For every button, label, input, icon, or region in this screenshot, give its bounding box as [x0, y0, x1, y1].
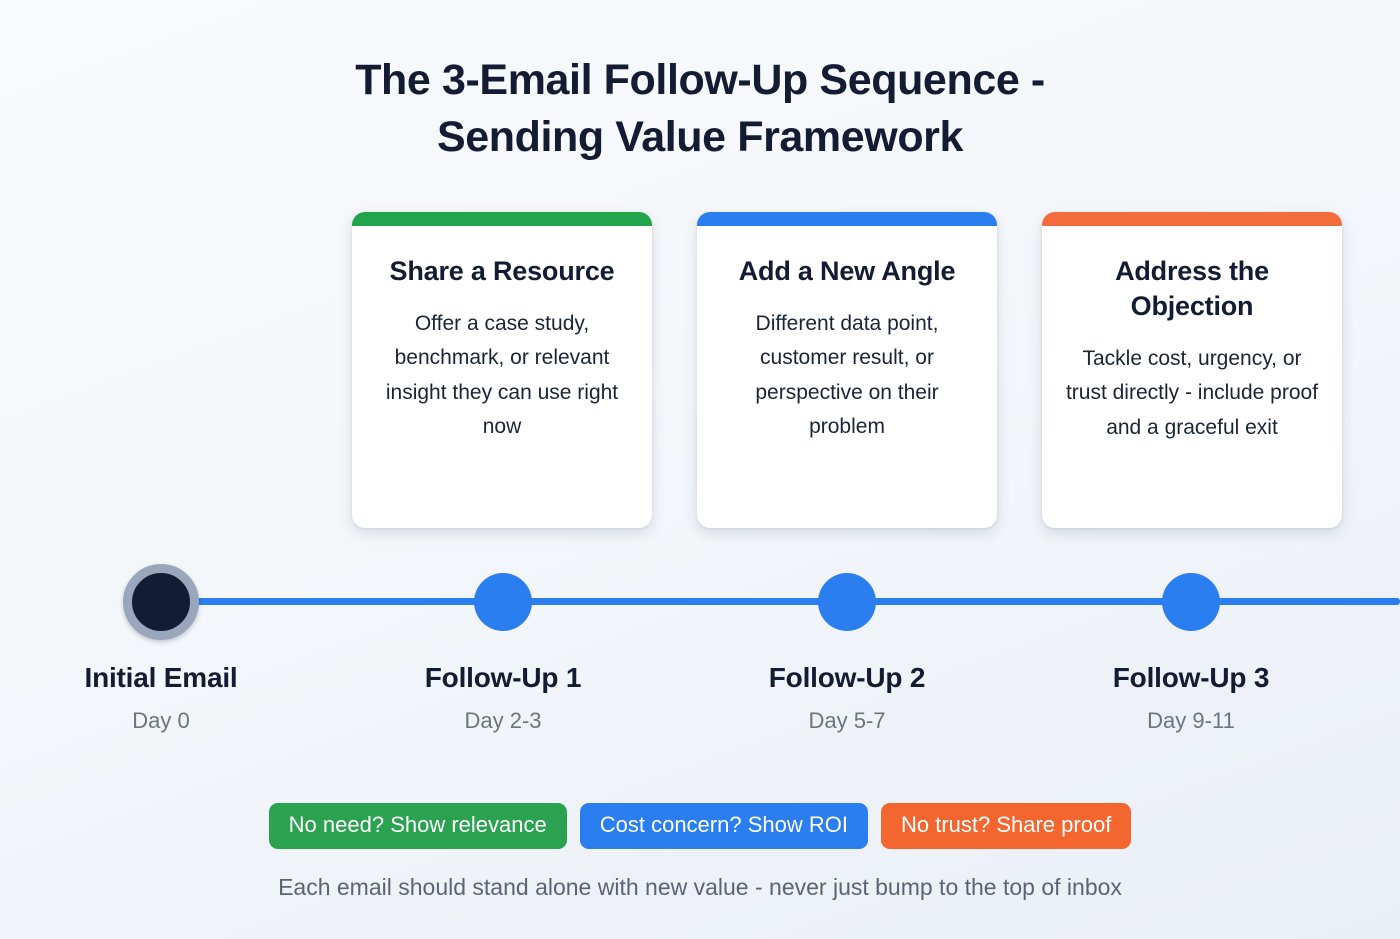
- timeline-labels: Initial Email Day 0 Follow-Up 1 Day 2-3 …: [0, 662, 1400, 757]
- card-title: Add a New Angle: [719, 254, 975, 289]
- step-name: Follow-Up 2: [697, 662, 997, 694]
- card-title: Share a Resource: [374, 254, 630, 289]
- card-accent-bar-green: [352, 212, 652, 226]
- pill-cost-concern: Cost concern? Show ROI: [580, 803, 868, 849]
- step-name: Follow-Up 3: [1041, 662, 1341, 694]
- card-title: Address the Objection: [1064, 254, 1320, 324]
- card-accent-bar-blue: [697, 212, 997, 226]
- timeline-node-follow-up-3: [1162, 573, 1220, 631]
- strategy-card-address-the-objection: Address the Objection Tackle cost, urgen…: [1042, 212, 1342, 528]
- card-description: Offer a case study, benchmark, or releva…: [374, 307, 630, 444]
- card-description: Tackle cost, urgency, or trust directly …: [1064, 342, 1320, 445]
- page-title-line-2: Sending Value Framework: [0, 109, 1400, 166]
- pill-no-trust: No trust? Share proof: [881, 803, 1131, 849]
- timeline-label-follow-up-3: Follow-Up 3 Day 9-11: [1041, 662, 1341, 734]
- timeline-node-follow-up-1: [474, 573, 532, 631]
- timeline-node-follow-up-2: [818, 573, 876, 631]
- strategy-cards: Share a Resource Offer a case study, ben…: [352, 212, 1352, 532]
- step-day: Day 9-11: [1041, 708, 1341, 734]
- timeline-label-initial-email: Initial Email Day 0: [11, 662, 311, 734]
- step-day: Day 2-3: [353, 708, 653, 734]
- card-description: Different data point, customer result, o…: [719, 307, 975, 444]
- timeline: [0, 560, 1400, 650]
- strategy-card-share-a-resource: Share a Resource Offer a case study, ben…: [352, 212, 652, 528]
- page-title-line-1: The 3-Email Follow-Up Sequence -: [0, 52, 1400, 109]
- pill-no-need: No need? Show relevance: [269, 803, 567, 849]
- step-name: Initial Email: [11, 662, 311, 694]
- timeline-label-follow-up-1: Follow-Up 1 Day 2-3: [353, 662, 653, 734]
- card-accent-bar-orange: [1042, 212, 1342, 226]
- footer-note: Each email should stand alone with new v…: [0, 874, 1400, 901]
- objection-pills: No need? Show relevance Cost concern? Sh…: [0, 803, 1400, 849]
- timeline-node-initial-email: [123, 564, 199, 640]
- strategy-card-add-a-new-angle: Add a New Angle Different data point, cu…: [697, 212, 997, 528]
- timeline-label-follow-up-2: Follow-Up 2 Day 5-7: [697, 662, 997, 734]
- step-name: Follow-Up 1: [353, 662, 653, 694]
- page-title: The 3-Email Follow-Up Sequence - Sending…: [0, 52, 1400, 166]
- step-day: Day 5-7: [697, 708, 997, 734]
- step-day: Day 0: [11, 708, 311, 734]
